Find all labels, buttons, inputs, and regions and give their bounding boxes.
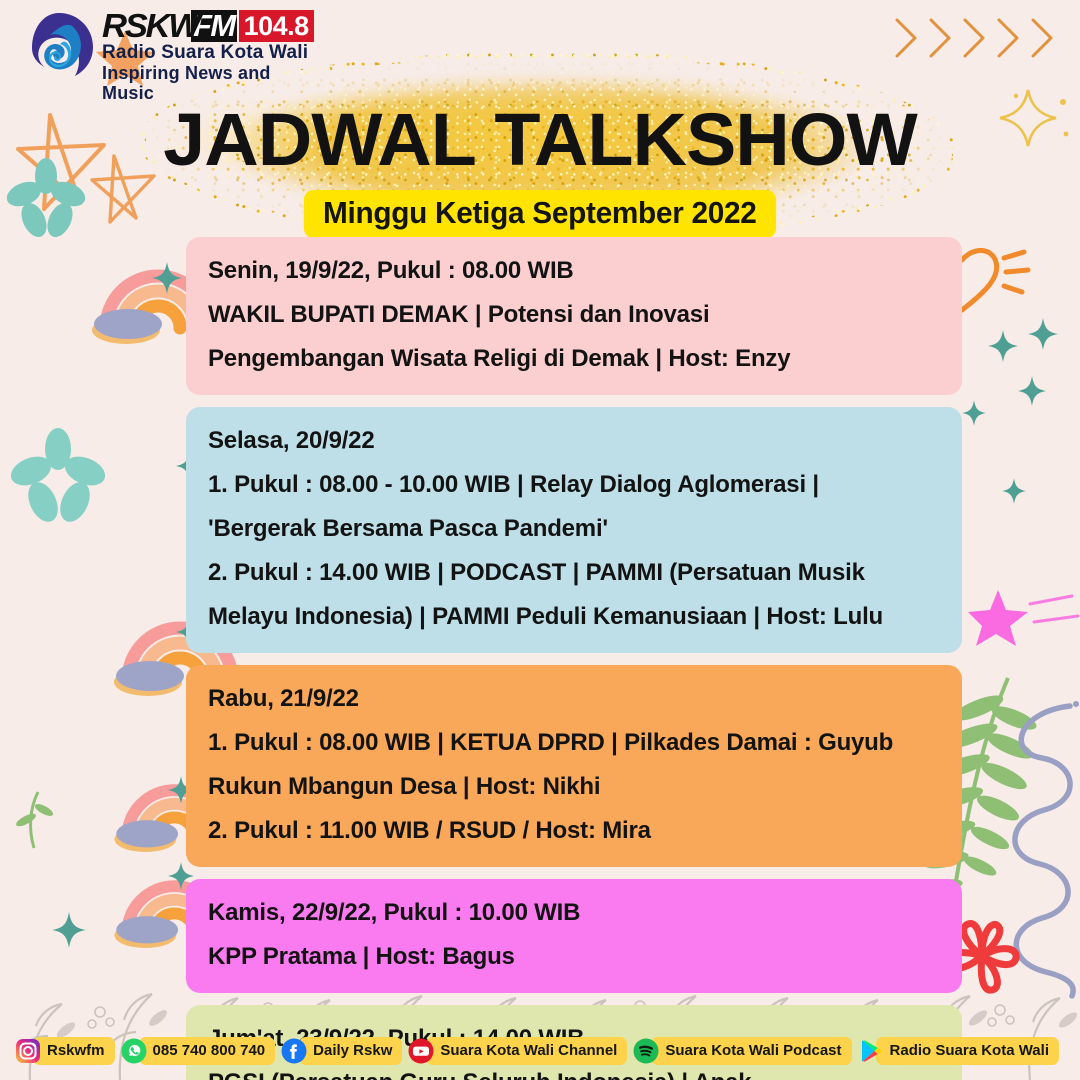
teal-flower-icon [10,430,106,524]
social-link-instagram[interactable]: Rskwfm [15,1037,115,1065]
schedule-card-day: Senin, 19/9/22, Pukul : 08.00 WIB [208,249,942,293]
sparkle-icon [988,330,1018,362]
facebook-icon[interactable] [281,1038,307,1064]
page-title: JADWAL TALKSHOW [0,100,1080,180]
social-link-youtube[interactable]: Suara Kota Wali Channel [408,1037,627,1065]
social-link-spotify[interactable]: Suara Kota Wali Podcast [633,1037,851,1065]
google-play-icon[interactable] [858,1038,884,1064]
social-link-facebook[interactable]: Daily Rskw [281,1037,402,1065]
social-link-whatsapp[interactable]: 085 740 800 740 [121,1037,276,1065]
page-subtitle: Minggu Ketiga September 2022 [304,190,776,238]
schedule-card-line: Pengembangan Wisata Religi di Demak | Ho… [208,337,942,381]
schedule-card-line: Melayu Indonesia) | PAMMI Peduli Kemanus… [208,595,942,639]
whatsapp-icon[interactable] [121,1038,147,1064]
social-label-instagram[interactable]: Rskwfm [33,1037,115,1065]
schedule-card-line: KPP Pratama | Host: Bagus [208,935,942,979]
schedule-card-line: Rukun Mbangun Desa | Host: Nikhi [208,765,942,809]
schedule-card-senin: Senin, 19/9/22, Pukul : 08.00 WIBWAKIL B… [186,237,962,395]
schedule-card-rabu: Rabu, 21/9/221. Pukul : 08.00 WIB | KETU… [186,665,962,867]
shooting-star-icon [968,588,1080,650]
schedule-card-line: 2. Pukul : 11.00 WIB / RSUD / Host: Mira [208,809,942,853]
youtube-icon[interactable] [408,1038,434,1064]
sprig-icon [14,790,54,850]
sparkle-icon [52,912,86,948]
social-label-playstore[interactable]: Radio Suara Kota Wali [876,1037,1059,1065]
logo-tagline-secondary: Inspiring News and Music [102,63,322,103]
schedule-card-kamis: Kamis, 22/9/22, Pukul : 10.00 WIBKPP Pra… [186,879,962,993]
page-subtitle-wrap: Minggu Ketiga September 2022 [0,190,1080,238]
chevron-row-icon [893,14,1068,62]
social-bar: Rskwfm085 740 800 740Daily RskwSuara Kot… [0,1034,1080,1068]
schedule-list: Senin, 19/9/22, Pukul : 08.00 WIBWAKIL B… [186,237,962,1080]
station-logo: RSKW FM 104.8 Radio Suara Kota Wali Insp… [22,6,322,86]
logo-callsign: RSKW [102,10,199,42]
sparkle-icon [1002,478,1026,504]
social-link-playstore[interactable]: Radio Suara Kota Wali [858,1037,1059,1065]
social-label-whatsapp[interactable]: 085 740 800 740 [139,1037,276,1065]
loop-spiral-icon [1000,700,1080,1000]
poster-canvas: RSKW FM 104.8 Radio Suara Kota Wali Insp… [0,0,1080,1080]
wave-swirl-logo-icon [22,10,96,84]
schedule-card-line: 2. Pukul : 14.00 WIB | PODCAST | PAMMI (… [208,551,942,595]
schedule-card-line: 1. Pukul : 08.00 WIB | KETUA DPRD | Pilk… [208,721,942,765]
schedule-card-line: 'Bergerak Bersama Pasca Pandemi' [208,507,942,551]
spotify-icon[interactable] [633,1038,659,1064]
sparkle-icon [1028,318,1058,350]
sparkle-icon [962,400,986,426]
sparkle-icon [152,262,182,294]
schedule-card-line: WAKIL BUPATI DEMAK | Potensi dan Inovasi [208,293,942,337]
logo-tagline-primary: Radio Suara Kota Wali [102,42,322,63]
instagram-icon[interactable] [15,1038,41,1064]
social-label-spotify[interactable]: Suara Kota Wali Podcast [651,1037,851,1065]
schedule-card-day: Rabu, 21/9/22 [208,677,942,721]
schedule-card-selasa: Selasa, 20/9/221. Pukul : 08.00 - 10.00 … [186,407,962,653]
schedule-card-line: 1. Pukul : 08.00 - 10.00 WIB | Relay Dia… [208,463,942,507]
social-label-facebook[interactable]: Daily Rskw [299,1037,402,1065]
social-label-youtube[interactable]: Suara Kota Wali Channel [426,1037,627,1065]
logo-frequency: 104.8 [239,10,314,42]
schedule-card-day: Selasa, 20/9/22 [208,419,942,463]
sparkle-icon [1018,376,1046,406]
schedule-card-day: Kamis, 22/9/22, Pukul : 10.00 WIB [208,891,942,935]
